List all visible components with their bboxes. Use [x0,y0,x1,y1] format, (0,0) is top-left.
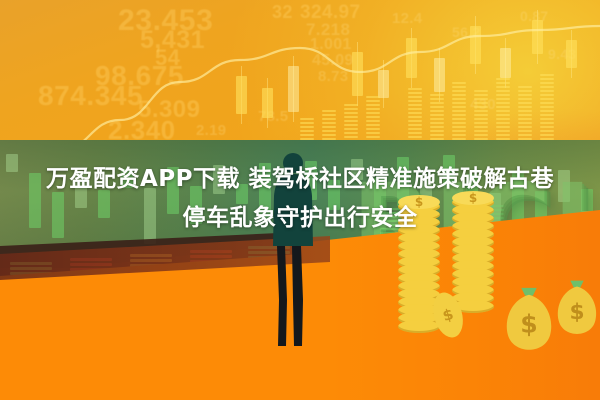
money-bag: $ [552,272,600,336]
caption-line-2: 停车乱象守护出行安全 [0,199,600,238]
banner-caption: 万盈配资APP下载 装驾桥社区精准施策破解古巷 停车乱象守护出行安全 [0,160,600,238]
banner-image: 23.4535,4315498.675874.3455.3092.3403232… [0,0,600,400]
money-bag: $ [500,278,558,352]
svg-text:$: $ [569,300,584,325]
caption-line-1: 万盈配资APP下载 装驾桥社区精准施策破解古巷 [0,160,600,199]
coin [398,320,440,333]
svg-text:$: $ [520,309,537,338]
